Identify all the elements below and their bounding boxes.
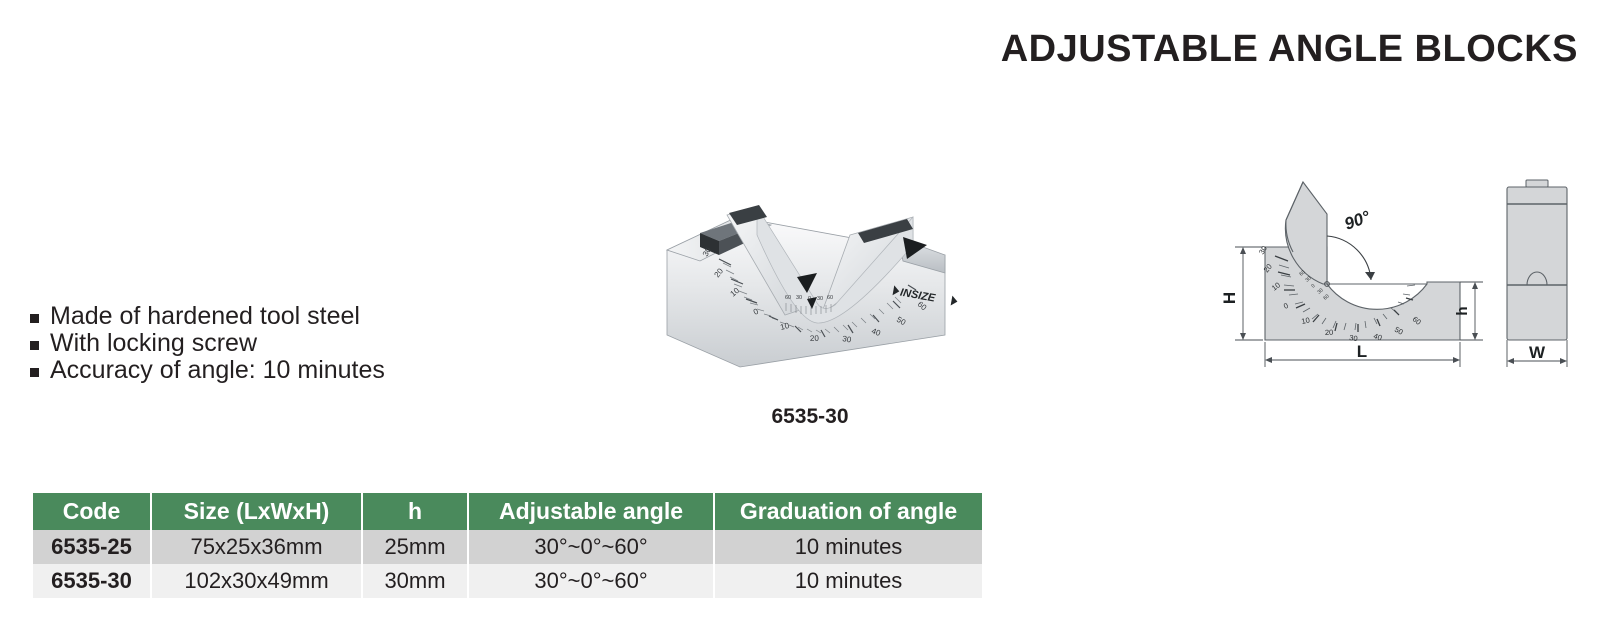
product-photo: 30 20 10 0 10 20 30 40 50 60 60 30 0 30 … <box>645 175 975 380</box>
dimension-L-label: L <box>1357 342 1367 361</box>
angle-label: 90° <box>1342 207 1373 234</box>
table-row[interactable]: 6535-25 75x25x36mm 25mm 30°~0°~60° 10 mi… <box>33 530 982 564</box>
dimension-H-label: H <box>1220 292 1239 304</box>
scale-label: 20 <box>1325 328 1334 337</box>
list-item: Made of hardened tool steel <box>30 303 385 330</box>
scale-label: 20 <box>810 334 820 343</box>
vernier-label: 0 <box>808 296 811 302</box>
table-header-row: Code Size (LxWxH) h Adjustable angle Gra… <box>33 493 982 530</box>
cell-code: 6535-30 <box>33 564 151 598</box>
top-tab <box>1526 180 1548 187</box>
scale-label: 40 <box>1372 331 1383 342</box>
page-title: ADJUSTABLE ANGLE BLOCKS <box>1001 28 1578 71</box>
dimension-W-label: W <box>1529 343 1546 362</box>
body-outline <box>1265 247 1460 340</box>
vernier-label: 60 <box>785 295 791 301</box>
cell-size: 102x30x49mm <box>151 564 362 598</box>
vernier-label: 30 <box>796 295 802 301</box>
column-header-h: h <box>362 493 468 530</box>
end-view-svg: W <box>1485 172 1595 372</box>
angle-arc <box>1327 236 1371 280</box>
list-item: Accuracy of angle: 10 minutes <box>30 357 385 384</box>
product-caption: 6535-30 <box>645 405 975 429</box>
cell-h: 25mm <box>362 530 468 564</box>
cell-code: 6535-25 <box>33 530 151 564</box>
cell-angle: 30°~0°~60° <box>468 564 714 598</box>
side-view-drawing: 90° 30 20 10 0 1 <box>1195 172 1485 372</box>
square-bullet-icon <box>30 341 39 350</box>
end-view-drawing: W <box>1485 172 1595 372</box>
table-row[interactable]: 6535-30 102x30x49mm 30mm 30°~0°~60° 10 m… <box>33 564 982 598</box>
vernier-label: 30 <box>817 296 823 302</box>
column-header-angle: Adjustable angle <box>468 493 714 530</box>
square-bullet-icon <box>30 314 39 323</box>
product-photo-svg: 30 20 10 0 10 20 30 40 50 60 60 30 0 30 … <box>645 175 975 380</box>
column-header-size: Size (LxWxH) <box>151 493 362 530</box>
angle-arrow-head <box>1365 272 1375 280</box>
feature-text: With locking screw <box>50 330 257 357</box>
cell-angle: 30°~0°~60° <box>468 530 714 564</box>
cell-grad: 10 minutes <box>714 530 982 564</box>
list-item: With locking screw <box>30 330 385 357</box>
vernier-label: 60 <box>827 295 833 301</box>
dimension-h-label: h <box>1454 306 1471 315</box>
column-header-code: Code <box>33 493 151 530</box>
square-bullet-icon <box>30 368 39 377</box>
feature-text: Accuracy of angle: 10 minutes <box>50 357 385 384</box>
dimension-H <box>1235 247 1263 340</box>
specification-table: Code Size (LxWxH) h Adjustable angle Gra… <box>33 493 982 598</box>
feature-list: Made of hardened tool steel With locking… <box>30 303 385 384</box>
feature-text: Made of hardened tool steel <box>50 303 360 330</box>
column-header-grad: Graduation of angle <box>714 493 982 530</box>
cell-h: 30mm <box>362 564 468 598</box>
end-body <box>1507 187 1567 340</box>
side-view-svg: 90° 30 20 10 0 1 <box>1195 172 1485 372</box>
cell-grad: 10 minutes <box>714 564 982 598</box>
cell-size: 75x25x36mm <box>151 530 362 564</box>
